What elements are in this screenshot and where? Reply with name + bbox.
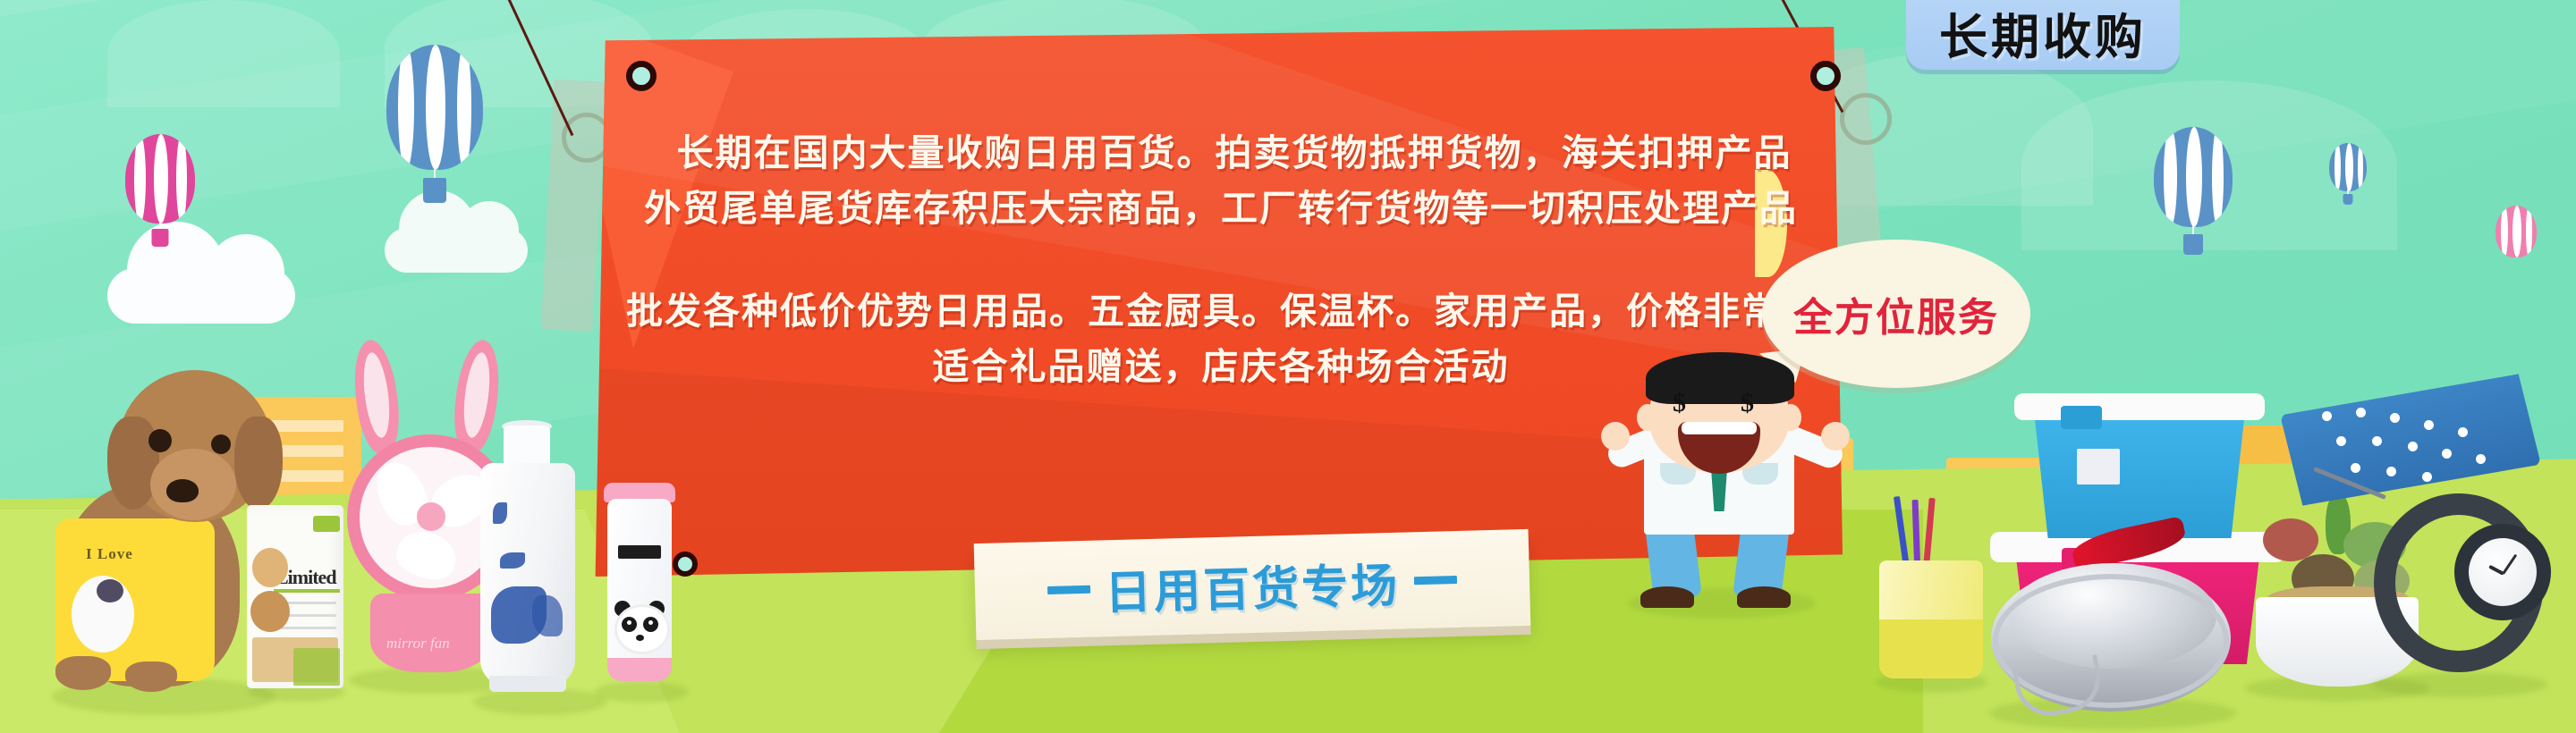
- pole-ring-right: [1840, 93, 1892, 145]
- banner-headline-line-1: 长期在国内大量收购日用百货。拍卖货物抵押货物，海关扣押产品: [626, 125, 1816, 181]
- bin-blue-lid: [2014, 393, 2265, 420]
- banner-grommet-left: [626, 61, 657, 91]
- cloud-icon: [107, 268, 295, 324]
- vase-foot: [489, 676, 566, 692]
- pen-cup-scallop-band: [1879, 619, 1983, 678]
- vase-blue-motif: [493, 502, 507, 524]
- product-panda-thermos: [595, 483, 693, 715]
- balloon-blue-small: [2329, 143, 2367, 191]
- banner-grommet-right: [1810, 61, 1841, 91]
- umbrella-dot: [2442, 449, 2452, 459]
- panda-eye-highlight-right: [648, 620, 653, 625]
- product-pen-cup: [1874, 496, 1990, 702]
- salesman-teeth: [1682, 422, 1757, 434]
- umbrella-dot: [2322, 411, 2332, 421]
- balloon-pink-large: [125, 134, 195, 223]
- umbrella-dot: [2408, 442, 2418, 451]
- umbrella-dot: [2351, 463, 2360, 473]
- cartoon-salesman: $ $: [1601, 349, 1851, 617]
- umbrella-dot: [2476, 454, 2486, 464]
- fan-base-text: mirror fan: [386, 635, 450, 653]
- product-steel-pot: [1977, 527, 2245, 733]
- umbrella-dot: [2372, 436, 2382, 446]
- dog-shirt-graphic-dot: [97, 579, 123, 602]
- category-plaque[interactable]: 日用百货专场: [975, 536, 1529, 633]
- balloon-blue-large: [386, 45, 483, 170]
- dog-ear-right: [234, 417, 283, 510]
- banner-text-gap: [626, 237, 1816, 283]
- salesman-hand-left: [1601, 422, 1630, 451]
- watch-shadow: [2372, 672, 2547, 697]
- salesman-dollar-eye-left: $: [1673, 388, 1686, 418]
- badge-label: 长期收购: [1939, 0, 2147, 68]
- thermos-base-ring: [607, 658, 672, 681]
- salesman-shoe-right: [1737, 586, 1791, 608]
- vase-body: [480, 463, 575, 687]
- dog-shirt-text: I Love: [86, 545, 133, 563]
- umbrella-dot: [2336, 436, 2346, 446]
- promo-banner-root: 长期在国内大量收购日用百货。拍卖货物抵押货物，海关扣押产品 外贸尾单尾货库存积压…: [0, 0, 2576, 733]
- long-term-purchase-badge[interactable]: 长期收购: [1906, 0, 2180, 70]
- plaque-dash-left: [1047, 585, 1090, 594]
- dog-eye-right: [211, 434, 231, 454]
- salesman-hand-right: [1821, 422, 1850, 451]
- umbrella-dot: [2424, 420, 2434, 430]
- food-bag-rule: [274, 589, 340, 593]
- bin-blue-body: [2025, 413, 2254, 538]
- food-bag-dog-photo-2: [250, 591, 290, 632]
- dog-nose: [166, 479, 199, 502]
- banner-body-line-1: 批发各种低价优势日用品。五金厨具。保温杯。家用产品，价格非常实惠: [626, 283, 1816, 339]
- dog-paw-right: [125, 661, 177, 692]
- bubble-label: 全方位服务: [1793, 285, 1999, 342]
- umbrella-dot: [2390, 413, 2400, 423]
- plaque-dash-right: [1414, 576, 1457, 585]
- vase-shadow: [473, 688, 607, 715]
- thermos-shadow: [595, 681, 688, 703]
- food-bag-dog-photo-1: [252, 548, 288, 587]
- vase-blue-motif: [532, 595, 563, 636]
- umbrella-dot: [2356, 408, 2366, 417]
- umbrella-dot: [2422, 472, 2432, 482]
- balloon-pink-small: [2495, 206, 2537, 257]
- panda-nose: [636, 635, 644, 641]
- umbrella-dot: [2458, 427, 2468, 437]
- dog-ear-left: [107, 417, 159, 510]
- salesman-shoe-left: [1640, 586, 1694, 608]
- salesman-dollar-eye-right: $: [1741, 388, 1754, 418]
- dog-paw-left: [55, 656, 111, 690]
- balloon-blue-large: [2154, 127, 2233, 227]
- vase-blue-motif: [500, 552, 525, 569]
- panda-eye-highlight-left: [627, 620, 631, 625]
- food-bag-spec-line: [274, 627, 336, 629]
- product-wristwatch: [2361, 483, 2567, 706]
- banner-headline-line-2: 外贸尾单尾货库存积压大宗商品，工厂转行货物等一切积压处理产品: [626, 181, 1816, 236]
- plaque-label: 日用百货专场: [1104, 547, 1401, 622]
- product-porcelain-vase: [470, 420, 613, 715]
- fan-hub: [417, 502, 445, 531]
- cloud-icon: [385, 228, 528, 273]
- dog-eye-left: [148, 429, 172, 452]
- bin-blue-handle: [2061, 406, 2102, 429]
- thermos-label: [618, 545, 661, 559]
- umbrella-dot: [2386, 467, 2396, 476]
- background-hill: [107, 0, 340, 107]
- salesman-hair: [1646, 352, 1794, 404]
- bin-blue-sticker: [2077, 449, 2120, 484]
